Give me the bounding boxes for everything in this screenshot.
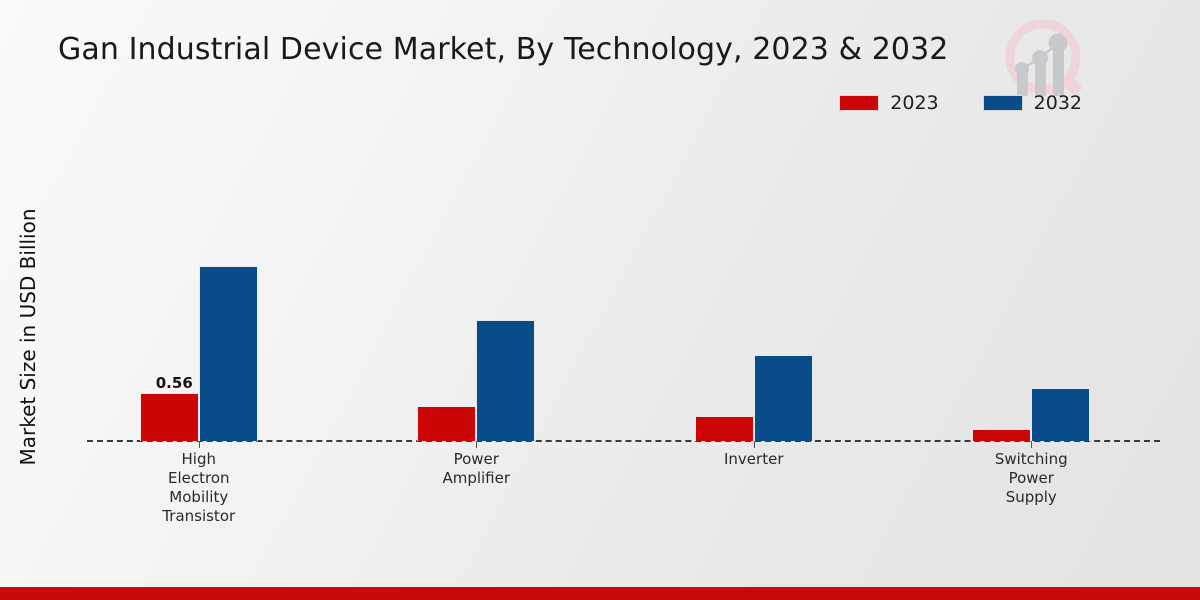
bar-groups: 0.56 High Electron Mobility Transistor: [60, 140, 1170, 441]
legend-label-2032: 2032: [1034, 92, 1082, 114]
bar-group-switching-power-supply: Switching Power Supply: [893, 140, 1171, 441]
bar-2032[interactable]: [1031, 388, 1090, 441]
x-axis-tick: [1031, 441, 1032, 448]
bar-value-label: 0.56: [156, 374, 193, 392]
category-label-line: Power: [376, 450, 576, 469]
bar-2032[interactable]: [754, 355, 813, 441]
bar-group-power-amplifier: Power Amplifier: [338, 140, 616, 441]
category-label-line: Transistor: [99, 507, 299, 526]
legend-swatch-2023: [839, 95, 879, 111]
bars-container: [972, 388, 1090, 441]
legend-swatch-2032: [983, 95, 1023, 111]
category-label-line: Amplifier: [376, 469, 576, 488]
category-label: Inverter: [654, 450, 854, 469]
category-label-line: Switching: [931, 450, 1131, 469]
x-axis-tick: [476, 441, 477, 448]
category-label-line: High: [99, 450, 299, 469]
bar-2032[interactable]: [476, 320, 535, 441]
bar-group-inverter: Inverter: [615, 140, 893, 441]
bar-2023[interactable]: [140, 393, 199, 441]
bar-2032[interactable]: [199, 266, 258, 441]
category-label: High Electron Mobility Transistor: [99, 450, 299, 526]
bar-2023[interactable]: [695, 416, 754, 441]
bar-group-high-electron-mobility-transistor: 0.56 High Electron Mobility Transistor: [60, 140, 338, 441]
category-label-line: Inverter: [654, 450, 854, 469]
chart-title: Gan Industrial Device Market, By Technol…: [58, 32, 949, 67]
category-label-line: Power: [931, 469, 1131, 488]
category-label: Power Amplifier: [376, 450, 576, 488]
y-axis-title: Market Size in USD Billion: [16, 167, 40, 507]
bars-container: [695, 355, 813, 441]
category-label-line: Mobility: [99, 488, 299, 507]
x-axis-tick: [199, 441, 200, 448]
bars-container: 0.56: [140, 266, 258, 441]
legend-label-2023: 2023: [890, 92, 938, 114]
bars-container: [417, 320, 535, 441]
footer-accent-bar: [0, 587, 1200, 600]
plot-area: 0.56 High Electron Mobility Transistor: [60, 140, 1170, 442]
chart-canvas: Gan Industrial Device Market, By Technol…: [0, 0, 1200, 600]
x-axis-tick: [754, 441, 755, 448]
chart-legend: 2023 2032: [839, 92, 1082, 114]
legend-item-2023[interactable]: 2023: [839, 92, 938, 114]
bar-2023[interactable]: [972, 429, 1031, 441]
category-label: Switching Power Supply: [931, 450, 1131, 507]
category-label-line: Supply: [931, 488, 1131, 507]
legend-item-2032[interactable]: 2032: [983, 92, 1082, 114]
category-label-line: Electron: [99, 469, 299, 488]
bar-2023[interactable]: [417, 406, 476, 441]
